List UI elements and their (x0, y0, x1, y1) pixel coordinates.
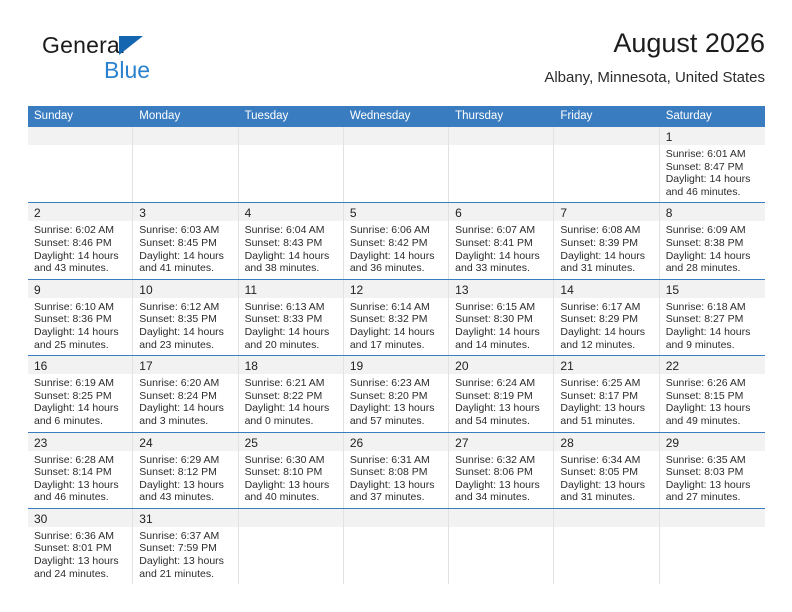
sunset-time: Sunset: 8:43 PM (245, 237, 337, 250)
day-cell-empty (133, 127, 238, 202)
day-sun-info: Sunrise: 6:23 AMSunset: 8:20 PMDaylight:… (344, 374, 448, 431)
title-block: August 2026 Albany, Minnesota, United St… (544, 26, 765, 89)
day-cell[interactable]: 10Sunrise: 6:12 AMSunset: 8:35 PMDayligh… (133, 280, 238, 355)
day-number-band: 18 (239, 356, 343, 374)
day-number: 11 (245, 283, 257, 297)
sunset-time: Sunset: 8:19 PM (455, 390, 547, 403)
daylight-duration-line1: Daylight: 14 hours (245, 402, 337, 415)
sunrise-time: Sunrise: 6:28 AM (34, 454, 126, 467)
day-number-band: 11 (239, 280, 343, 298)
calendar-body: 1Sunrise: 6:01 AMSunset: 8:47 PMDaylight… (28, 127, 765, 584)
day-cell[interactable]: 15Sunrise: 6:18 AMSunset: 8:27 PMDayligh… (660, 280, 765, 355)
day-cell[interactable]: 5Sunrise: 6:06 AMSunset: 8:42 PMDaylight… (344, 203, 449, 278)
day-cell[interactable]: 19Sunrise: 6:23 AMSunset: 8:20 PMDayligh… (344, 356, 449, 431)
day-cell[interactable]: 4Sunrise: 6:04 AMSunset: 8:43 PMDaylight… (239, 203, 344, 278)
daylight-duration-line1: Daylight: 14 hours (350, 250, 442, 263)
day-cell-empty (239, 509, 344, 584)
day-cell[interactable]: 20Sunrise: 6:24 AMSunset: 8:19 PMDayligh… (449, 356, 554, 431)
weekday-header-tuesday: Tuesday (239, 106, 344, 127)
day-cell[interactable]: 6Sunrise: 6:07 AMSunset: 8:41 PMDaylight… (449, 203, 554, 278)
day-sun-info: Sunrise: 6:02 AMSunset: 8:46 PMDaylight:… (28, 221, 132, 278)
day-number-band: 20 (449, 356, 553, 374)
day-sun-info: Sunrise: 6:03 AMSunset: 8:45 PMDaylight:… (133, 221, 237, 278)
day-cell-empty (344, 127, 449, 202)
sunrise-time: Sunrise: 6:19 AM (34, 377, 126, 390)
sunset-time: Sunset: 8:08 PM (350, 466, 442, 479)
daylight-duration-line2: and 0 minutes. (245, 415, 337, 428)
daylight-duration-line2: and 49 minutes. (666, 415, 759, 428)
day-number-band: 7 (554, 203, 658, 221)
sunrise-time: Sunrise: 6:21 AM (245, 377, 337, 390)
sunset-time: Sunset: 8:47 PM (666, 161, 759, 174)
daylight-duration-line2: and 51 minutes. (560, 415, 652, 428)
calendar-week-row: 2Sunrise: 6:02 AMSunset: 8:46 PMDaylight… (28, 202, 765, 278)
day-number-band (554, 509, 658, 527)
day-sun-info: Sunrise: 6:36 AMSunset: 8:01 PMDaylight:… (28, 527, 132, 584)
day-cell-empty (28, 127, 133, 202)
day-number: 14 (560, 283, 573, 297)
weekday-header-thursday: Thursday (449, 106, 554, 127)
day-cell[interactable]: 24Sunrise: 6:29 AMSunset: 8:12 PMDayligh… (133, 433, 238, 508)
day-cell[interactable]: 25Sunrise: 6:30 AMSunset: 8:10 PMDayligh… (239, 433, 344, 508)
day-number-band: 27 (449, 433, 553, 451)
sunrise-time: Sunrise: 6:09 AM (666, 224, 759, 237)
sunset-time: Sunset: 8:14 PM (34, 466, 126, 479)
sunrise-time: Sunrise: 6:13 AM (245, 301, 337, 314)
day-number: 30 (34, 512, 47, 526)
day-number-band: 21 (554, 356, 658, 374)
day-number: 17 (139, 359, 152, 373)
daylight-duration-line1: Daylight: 13 hours (350, 479, 442, 492)
daylight-duration-line2: and 9 minutes. (666, 339, 759, 352)
day-number: 9 (34, 283, 41, 297)
sunrise-time: Sunrise: 6:07 AM (455, 224, 547, 237)
day-cell-empty (554, 509, 659, 584)
day-sun-info: Sunrise: 6:21 AMSunset: 8:22 PMDaylight:… (239, 374, 343, 431)
sunset-time: Sunset: 8:12 PM (139, 466, 231, 479)
sunset-time: Sunset: 8:35 PM (139, 313, 231, 326)
day-number-band: 1 (660, 127, 765, 145)
daylight-duration-line1: Daylight: 13 hours (560, 402, 652, 415)
sunset-time: Sunset: 8:05 PM (560, 466, 652, 479)
day-number-band (449, 509, 553, 527)
day-number: 26 (350, 436, 363, 450)
daylight-duration-line2: and 14 minutes. (455, 339, 547, 352)
sunset-time: Sunset: 8:03 PM (666, 466, 759, 479)
sunrise-time: Sunrise: 6:29 AM (139, 454, 231, 467)
daylight-duration-line1: Daylight: 13 hours (666, 479, 759, 492)
day-sun-info: Sunrise: 6:29 AMSunset: 8:12 PMDaylight:… (133, 451, 237, 508)
day-number-band (554, 127, 658, 145)
sunrise-time: Sunrise: 6:31 AM (350, 454, 442, 467)
daylight-duration-line1: Daylight: 13 hours (560, 479, 652, 492)
sunset-time: Sunset: 8:42 PM (350, 237, 442, 250)
sunrise-time: Sunrise: 6:35 AM (666, 454, 759, 467)
sunrise-time: Sunrise: 6:02 AM (34, 224, 126, 237)
day-cell[interactable]: 12Sunrise: 6:14 AMSunset: 8:32 PMDayligh… (344, 280, 449, 355)
day-number-band: 5 (344, 203, 448, 221)
day-number: 31 (139, 512, 152, 526)
day-cell[interactable]: 18Sunrise: 6:21 AMSunset: 8:22 PMDayligh… (239, 356, 344, 431)
day-number: 8 (666, 206, 673, 220)
calendar-week-row: 30Sunrise: 6:36 AMSunset: 8:01 PMDayligh… (28, 508, 765, 584)
day-cell-empty (449, 509, 554, 584)
sunrise-time: Sunrise: 6:10 AM (34, 301, 126, 314)
daylight-duration-line1: Daylight: 13 hours (245, 479, 337, 492)
day-cell[interactable]: 26Sunrise: 6:31 AMSunset: 8:08 PMDayligh… (344, 433, 449, 508)
day-number-band (449, 127, 553, 145)
sunset-time: Sunset: 8:38 PM (666, 237, 759, 250)
daylight-duration-line1: Daylight: 14 hours (34, 250, 126, 263)
day-cell-empty (554, 127, 659, 202)
daylight-duration-line1: Daylight: 14 hours (666, 326, 759, 339)
day-number: 13 (455, 283, 468, 297)
sunrise-time: Sunrise: 6:20 AM (139, 377, 231, 390)
day-number: 27 (455, 436, 468, 450)
sunrise-time: Sunrise: 6:30 AM (245, 454, 337, 467)
brand-logo[interactable]: General Blue (42, 32, 232, 94)
sunrise-time: Sunrise: 6:34 AM (560, 454, 652, 467)
day-cell[interactable]: 23Sunrise: 6:28 AMSunset: 8:14 PMDayligh… (28, 433, 133, 508)
day-number: 16 (34, 359, 47, 373)
daylight-duration-line2: and 31 minutes. (560, 262, 652, 275)
daylight-duration-line2: and 46 minutes. (666, 186, 759, 199)
day-number-band: 10 (133, 280, 237, 298)
day-number-band: 4 (239, 203, 343, 221)
day-number-band (28, 127, 132, 145)
daylight-duration-line1: Daylight: 13 hours (139, 479, 231, 492)
daylight-duration-line2: and 46 minutes. (34, 491, 126, 504)
weekday-header-wednesday: Wednesday (344, 106, 449, 127)
sunset-time: Sunset: 8:29 PM (560, 313, 652, 326)
sunset-time: Sunset: 8:24 PM (139, 390, 231, 403)
daylight-duration-line2: and 21 minutes. (139, 568, 231, 581)
sunset-time: Sunset: 8:17 PM (560, 390, 652, 403)
calendar-grid: SundayMondayTuesdayWednesdayThursdayFrid… (28, 106, 765, 584)
day-number: 1 (666, 130, 673, 144)
daylight-duration-line2: and 23 minutes. (139, 339, 231, 352)
page-subtitle: Albany, Minnesota, United States (544, 67, 765, 89)
day-number: 15 (666, 283, 679, 297)
day-number-band: 31 (133, 509, 237, 527)
daylight-duration-line2: and 54 minutes. (455, 415, 547, 428)
day-number: 7 (560, 206, 567, 220)
sunrise-time: Sunrise: 6:24 AM (455, 377, 547, 390)
sunrise-time: Sunrise: 6:25 AM (560, 377, 652, 390)
day-number-band: 8 (660, 203, 765, 221)
day-sun-info: Sunrise: 6:17 AMSunset: 8:29 PMDaylight:… (554, 298, 658, 355)
day-number: 18 (245, 359, 258, 373)
day-cell[interactable]: 9Sunrise: 6:10 AMSunset: 8:36 PMDaylight… (28, 280, 133, 355)
day-cell[interactable]: 7Sunrise: 6:08 AMSunset: 8:39 PMDaylight… (554, 203, 659, 278)
sunrise-time: Sunrise: 6:18 AM (666, 301, 759, 314)
sunrise-time: Sunrise: 6:23 AM (350, 377, 442, 390)
day-cell[interactable]: 21Sunrise: 6:25 AMSunset: 8:17 PMDayligh… (554, 356, 659, 431)
day-number-band (660, 509, 765, 527)
day-number-band: 22 (660, 356, 765, 374)
sunset-time: Sunset: 8:30 PM (455, 313, 547, 326)
sunrise-time: Sunrise: 6:32 AM (455, 454, 547, 467)
daylight-duration-line2: and 3 minutes. (139, 415, 231, 428)
day-number-band: 13 (449, 280, 553, 298)
daylight-duration-line1: Daylight: 14 hours (245, 250, 337, 263)
daylight-duration-line1: Daylight: 14 hours (34, 402, 126, 415)
brand-triangle-icon (119, 36, 143, 55)
daylight-duration-line2: and 31 minutes. (560, 491, 652, 504)
day-number-band (133, 127, 237, 145)
day-sun-info: Sunrise: 6:07 AMSunset: 8:41 PMDaylight:… (449, 221, 553, 278)
sunset-time: Sunset: 8:36 PM (34, 313, 126, 326)
daylight-duration-line1: Daylight: 13 hours (666, 402, 759, 415)
day-cell-empty (344, 509, 449, 584)
daylight-duration-line1: Daylight: 14 hours (560, 326, 652, 339)
day-sun-info: Sunrise: 6:14 AMSunset: 8:32 PMDaylight:… (344, 298, 448, 355)
day-number-band (344, 509, 448, 527)
day-sun-info: Sunrise: 6:06 AMSunset: 8:42 PMDaylight:… (344, 221, 448, 278)
daylight-duration-line1: Daylight: 13 hours (350, 402, 442, 415)
day-number-band (344, 127, 448, 145)
day-number: 4 (245, 206, 252, 220)
daylight-duration-line2: and 6 minutes. (34, 415, 126, 428)
weekday-header-monday: Monday (133, 106, 238, 127)
day-sun-info: Sunrise: 6:13 AMSunset: 8:33 PMDaylight:… (239, 298, 343, 355)
weekday-header-saturday: Saturday (660, 106, 765, 127)
day-number: 12 (350, 283, 363, 297)
day-sun-info: Sunrise: 6:32 AMSunset: 8:06 PMDaylight:… (449, 451, 553, 508)
day-number: 5 (350, 206, 357, 220)
daylight-duration-line1: Daylight: 14 hours (245, 326, 337, 339)
sunrise-time: Sunrise: 6:01 AM (666, 148, 759, 161)
sunrise-time: Sunrise: 6:17 AM (560, 301, 652, 314)
day-number: 25 (245, 436, 258, 450)
day-number-band: 16 (28, 356, 132, 374)
daylight-duration-line1: Daylight: 13 hours (139, 555, 231, 568)
sunrise-time: Sunrise: 6:06 AM (350, 224, 442, 237)
brand-name-blue: Blue (104, 57, 150, 84)
sunrise-time: Sunrise: 6:26 AM (666, 377, 759, 390)
daylight-duration-line2: and 20 minutes. (245, 339, 337, 352)
day-number: 2 (34, 206, 41, 220)
sunset-time: Sunset: 8:01 PM (34, 542, 126, 555)
sunrise-time: Sunrise: 6:03 AM (139, 224, 231, 237)
daylight-duration-line2: and 25 minutes. (34, 339, 126, 352)
daylight-duration-line1: Daylight: 13 hours (34, 479, 126, 492)
day-sun-info: Sunrise: 6:31 AMSunset: 8:08 PMDaylight:… (344, 451, 448, 508)
day-number-band: 30 (28, 509, 132, 527)
brand-name-general: General (42, 32, 125, 59)
daylight-duration-line1: Daylight: 14 hours (560, 250, 652, 263)
sunset-time: Sunset: 8:06 PM (455, 466, 547, 479)
day-cell[interactable]: 17Sunrise: 6:20 AMSunset: 8:24 PMDayligh… (133, 356, 238, 431)
sunrise-time: Sunrise: 6:04 AM (245, 224, 337, 237)
calendar-week-row: 1Sunrise: 6:01 AMSunset: 8:47 PMDaylight… (28, 127, 765, 202)
calendar-week-row: 16Sunrise: 6:19 AMSunset: 8:25 PMDayligh… (28, 355, 765, 431)
day-number: 23 (34, 436, 47, 450)
day-number: 20 (455, 359, 468, 373)
day-cell[interactable]: 2Sunrise: 6:02 AMSunset: 8:46 PMDaylight… (28, 203, 133, 278)
day-cell[interactable]: 14Sunrise: 6:17 AMSunset: 8:29 PMDayligh… (554, 280, 659, 355)
daylight-duration-line2: and 34 minutes. (455, 491, 547, 504)
day-cell[interactable]: 16Sunrise: 6:19 AMSunset: 8:25 PMDayligh… (28, 356, 133, 431)
calendar-page: General Blue August 2026 Albany, Minneso… (0, 0, 792, 612)
daylight-duration-line2: and 43 minutes. (139, 491, 231, 504)
day-cell[interactable]: 11Sunrise: 6:13 AMSunset: 8:33 PMDayligh… (239, 280, 344, 355)
day-sun-info: Sunrise: 6:12 AMSunset: 8:35 PMDaylight:… (133, 298, 237, 355)
daylight-duration-line2: and 57 minutes. (350, 415, 442, 428)
calendar-week-row: 23Sunrise: 6:28 AMSunset: 8:14 PMDayligh… (28, 432, 765, 508)
day-cell[interactable]: 28Sunrise: 6:34 AMSunset: 8:05 PMDayligh… (554, 433, 659, 508)
sunset-time: Sunset: 7:59 PM (139, 542, 231, 555)
day-number-band: 23 (28, 433, 132, 451)
day-cell[interactable]: 13Sunrise: 6:15 AMSunset: 8:30 PMDayligh… (449, 280, 554, 355)
sunset-time: Sunset: 8:39 PM (560, 237, 652, 250)
day-sun-info: Sunrise: 6:35 AMSunset: 8:03 PMDaylight:… (660, 451, 765, 508)
sunrise-time: Sunrise: 6:15 AM (455, 301, 547, 314)
day-number: 24 (139, 436, 152, 450)
sunset-time: Sunset: 8:10 PM (245, 466, 337, 479)
day-sun-info: Sunrise: 6:19 AMSunset: 8:25 PMDaylight:… (28, 374, 132, 431)
daylight-duration-line1: Daylight: 14 hours (139, 326, 231, 339)
day-number-band: 14 (554, 280, 658, 298)
day-cell[interactable]: 27Sunrise: 6:32 AMSunset: 8:06 PMDayligh… (449, 433, 554, 508)
daylight-duration-line1: Daylight: 13 hours (455, 402, 547, 415)
daylight-duration-line1: Daylight: 14 hours (139, 402, 231, 415)
sunset-time: Sunset: 8:27 PM (666, 313, 759, 326)
sunrise-time: Sunrise: 6:14 AM (350, 301, 442, 314)
day-number: 3 (139, 206, 146, 220)
sunset-time: Sunset: 8:45 PM (139, 237, 231, 250)
daylight-duration-line1: Daylight: 13 hours (455, 479, 547, 492)
day-sun-info: Sunrise: 6:30 AMSunset: 8:10 PMDaylight:… (239, 451, 343, 508)
daylight-duration-line2: and 37 minutes. (350, 491, 442, 504)
day-sun-info: Sunrise: 6:01 AMSunset: 8:47 PMDaylight:… (660, 145, 765, 202)
sunset-time: Sunset: 8:20 PM (350, 390, 442, 403)
day-number: 29 (666, 436, 679, 450)
daylight-duration-line2: and 17 minutes. (350, 339, 442, 352)
sunrise-time: Sunrise: 6:08 AM (560, 224, 652, 237)
sunrise-time: Sunrise: 6:36 AM (34, 530, 126, 543)
daylight-duration-line2: and 27 minutes. (666, 491, 759, 504)
day-number-band: 19 (344, 356, 448, 374)
day-sun-info: Sunrise: 6:18 AMSunset: 8:27 PMDaylight:… (660, 298, 765, 355)
day-sun-info: Sunrise: 6:04 AMSunset: 8:43 PMDaylight:… (239, 221, 343, 278)
day-number-band: 3 (133, 203, 237, 221)
day-cell[interactable]: 29Sunrise: 6:35 AMSunset: 8:03 PMDayligh… (660, 433, 765, 508)
daylight-duration-line1: Daylight: 14 hours (455, 326, 547, 339)
sunset-time: Sunset: 8:22 PM (245, 390, 337, 403)
day-sun-info: Sunrise: 6:24 AMSunset: 8:19 PMDaylight:… (449, 374, 553, 431)
daylight-duration-line1: Daylight: 14 hours (34, 326, 126, 339)
day-sun-info: Sunrise: 6:20 AMSunset: 8:24 PMDaylight:… (133, 374, 237, 431)
page-title: August 2026 (544, 26, 765, 60)
day-sun-info: Sunrise: 6:28 AMSunset: 8:14 PMDaylight:… (28, 451, 132, 508)
sunrise-time: Sunrise: 6:12 AM (139, 301, 231, 314)
daylight-duration-line1: Daylight: 14 hours (666, 173, 759, 186)
day-cell[interactable]: 3Sunrise: 6:03 AMSunset: 8:45 PMDaylight… (133, 203, 238, 278)
day-number-band: 26 (344, 433, 448, 451)
daylight-duration-line1: Daylight: 14 hours (455, 250, 547, 263)
daylight-duration-line1: Daylight: 14 hours (139, 250, 231, 263)
day-sun-info: Sunrise: 6:10 AMSunset: 8:36 PMDaylight:… (28, 298, 132, 355)
daylight-duration-line2: and 41 minutes. (139, 262, 231, 275)
daylight-duration-line2: and 33 minutes. (455, 262, 547, 275)
weekday-header-row: SundayMondayTuesdayWednesdayThursdayFrid… (28, 106, 765, 127)
calendar-week-row: 9Sunrise: 6:10 AMSunset: 8:36 PMDaylight… (28, 279, 765, 355)
weekday-header-sunday: Sunday (28, 106, 133, 127)
sunset-time: Sunset: 8:46 PM (34, 237, 126, 250)
day-number: 21 (560, 359, 573, 373)
day-cell[interactable]: 22Sunrise: 6:26 AMSunset: 8:15 PMDayligh… (660, 356, 765, 431)
sunrise-time: Sunrise: 6:37 AM (139, 530, 231, 543)
day-number: 6 (455, 206, 462, 220)
daylight-duration-line2: and 43 minutes. (34, 262, 126, 275)
day-number-band: 25 (239, 433, 343, 451)
day-number: 22 (666, 359, 679, 373)
day-number-band: 2 (28, 203, 132, 221)
day-cell-empty (449, 127, 554, 202)
daylight-duration-line2: and 38 minutes. (245, 262, 337, 275)
day-sun-info: Sunrise: 6:37 AMSunset: 7:59 PMDaylight:… (133, 527, 237, 584)
day-sun-info: Sunrise: 6:09 AMSunset: 8:38 PMDaylight:… (660, 221, 765, 278)
daylight-duration-line1: Daylight: 13 hours (34, 555, 126, 568)
day-cell-empty (239, 127, 344, 202)
sunset-time: Sunset: 8:15 PM (666, 390, 759, 403)
daylight-duration-line2: and 28 minutes. (666, 262, 759, 275)
day-number-band: 6 (449, 203, 553, 221)
day-sun-info: Sunrise: 6:26 AMSunset: 8:15 PMDaylight:… (660, 374, 765, 431)
day-number: 19 (350, 359, 363, 373)
daylight-duration-line2: and 12 minutes. (560, 339, 652, 352)
daylight-duration-line1: Daylight: 14 hours (666, 250, 759, 263)
day-number-band: 17 (133, 356, 237, 374)
day-number-band: 28 (554, 433, 658, 451)
day-cell[interactable]: 31Sunrise: 6:37 AMSunset: 7:59 PMDayligh… (133, 509, 238, 584)
page-header: General Blue August 2026 Albany, Minneso… (28, 26, 765, 98)
sunset-time: Sunset: 8:33 PM (245, 313, 337, 326)
sunset-time: Sunset: 8:41 PM (455, 237, 547, 250)
day-sun-info: Sunrise: 6:34 AMSunset: 8:05 PMDaylight:… (554, 451, 658, 508)
day-number-band: 9 (28, 280, 132, 298)
daylight-duration-line2: and 40 minutes. (245, 491, 337, 504)
day-number-band: 24 (133, 433, 237, 451)
day-cell[interactable]: 1Sunrise: 6:01 AMSunset: 8:47 PMDaylight… (660, 127, 765, 202)
day-number-band: 15 (660, 280, 765, 298)
day-cell-empty (660, 509, 765, 584)
weekday-header-friday: Friday (554, 106, 659, 127)
day-number-band (239, 509, 343, 527)
day-number: 28 (560, 436, 573, 450)
daylight-duration-line2: and 24 minutes. (34, 568, 126, 581)
day-number-band: 29 (660, 433, 765, 451)
day-number-band: 12 (344, 280, 448, 298)
day-number-band (239, 127, 343, 145)
day-number: 10 (139, 283, 152, 297)
day-cell[interactable]: 30Sunrise: 6:36 AMSunset: 8:01 PMDayligh… (28, 509, 133, 584)
day-sun-info: Sunrise: 6:25 AMSunset: 8:17 PMDaylight:… (554, 374, 658, 431)
day-sun-info: Sunrise: 6:15 AMSunset: 8:30 PMDaylight:… (449, 298, 553, 355)
daylight-duration-line1: Daylight: 14 hours (350, 326, 442, 339)
day-cell[interactable]: 8Sunrise: 6:09 AMSunset: 8:38 PMDaylight… (660, 203, 765, 278)
daylight-duration-line2: and 36 minutes. (350, 262, 442, 275)
day-sun-info: Sunrise: 6:08 AMSunset: 8:39 PMDaylight:… (554, 221, 658, 278)
sunset-time: Sunset: 8:32 PM (350, 313, 442, 326)
sunset-time: Sunset: 8:25 PM (34, 390, 126, 403)
